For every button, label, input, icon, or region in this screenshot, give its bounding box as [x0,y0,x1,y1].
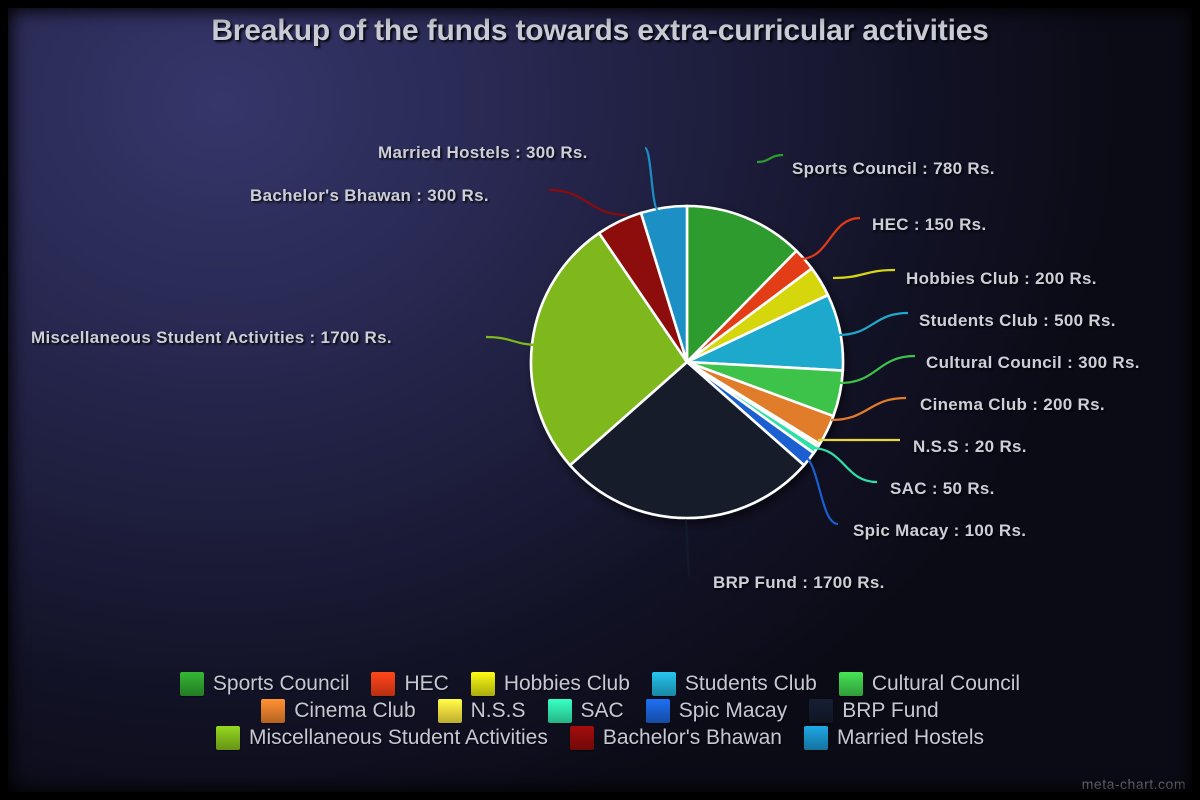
slice-label: SAC : 50 Rs. [890,479,995,499]
legend-item[interactable]: SAC [548,699,624,723]
legend-label: Cultural Council [872,672,1020,696]
legend-label: Hobbies Club [504,672,630,696]
legend-swatch [261,699,285,723]
legend-item[interactable]: Sports Council [180,672,350,696]
legend-item[interactable]: Hobbies Club [471,672,630,696]
leader-line [645,148,658,210]
legend-swatch [471,672,495,696]
slice-label: Students Club : 500 Rs. [919,311,1116,331]
leader-line [685,520,690,576]
leader-line [838,313,908,335]
legend-swatch [371,672,395,696]
legend-item[interactable]: Bachelor's Bhawan [570,726,782,750]
legend-swatch [548,699,572,723]
leader-line [833,270,895,278]
legend-item[interactable]: HEC [371,672,448,696]
leader-line [812,448,877,482]
legend-row: Cinema ClubN.S.SSACSpic MacayBRP Fund [261,699,938,723]
leader-line [549,190,627,215]
legend-label: HEC [404,672,448,696]
slice-label: BRP Fund : 1700 Rs. [713,573,885,593]
legend-label: SAC [581,699,624,723]
slice-label: Spic Macay : 100 Rs. [853,521,1026,541]
leader-line [840,356,915,383]
legend-swatch [809,699,833,723]
chart-canvas: Breakup of the funds towards extra-curri… [0,0,1200,800]
legend-label: N.S.S [471,699,526,723]
legend-row: Miscellaneous Student ActivitiesBachelor… [216,726,984,750]
legend-item[interactable]: Miscellaneous Student Activities [216,726,548,750]
legend-label: BRP Fund [842,699,939,723]
legend-label: Miscellaneous Student Activities [249,726,548,750]
legend-label: Spic Macay [679,699,788,723]
leader-line [757,155,783,162]
legend-item[interactable]: Married Hostels [804,726,984,750]
legend-item[interactable]: Cinema Club [261,699,415,723]
legend-label: Married Hostels [837,726,984,750]
legend-swatch [646,699,670,723]
slice-label: Cinema Club : 200 Rs. [920,395,1105,415]
legend-swatch [652,672,676,696]
legend-swatch [570,726,594,750]
legend-item[interactable]: Students Club [652,672,817,696]
legend-item[interactable]: Spic Macay [646,699,788,723]
slice-label: Miscellaneous Student Activities : 1700 … [31,328,392,348]
chart-legend: Sports CouncilHECHobbies ClubStudents Cl… [0,672,1200,750]
slice-label: Bachelor's Bhawan : 300 Rs. [250,186,489,206]
legend-swatch [804,726,828,750]
leader-line [800,218,860,259]
pie-slices [531,206,843,518]
legend-swatch [180,672,204,696]
legend-swatch [216,726,240,750]
slice-label: HEC : 150 Rs. [872,215,986,235]
legend-swatch [839,672,863,696]
slice-label: Sports Council : 780 Rs. [792,159,995,179]
legend-label: Students Club [685,672,817,696]
leader-line [831,398,906,420]
slice-label: Cultural Council : 300 Rs. [926,353,1140,373]
legend-label: Cinema Club [294,699,415,723]
legend-swatch [438,699,462,723]
legend-item[interactable]: N.S.S [438,699,526,723]
watermark: meta-chart.com [1082,776,1186,792]
legend-row: Sports CouncilHECHobbies ClubStudents Cl… [180,672,1020,696]
legend-label: Sports Council [213,672,350,696]
slice-label: Married Hostels : 300 Rs. [378,143,588,163]
slice-label: Hobbies Club : 200 Rs. [906,269,1097,289]
legend-item[interactable]: BRP Fund [809,699,939,723]
legend-label: Bachelor's Bhawan [603,726,782,750]
leader-line [801,455,838,524]
slice-label: N.S.S : 20 Rs. [913,437,1027,457]
legend-item[interactable]: Cultural Council [839,672,1020,696]
